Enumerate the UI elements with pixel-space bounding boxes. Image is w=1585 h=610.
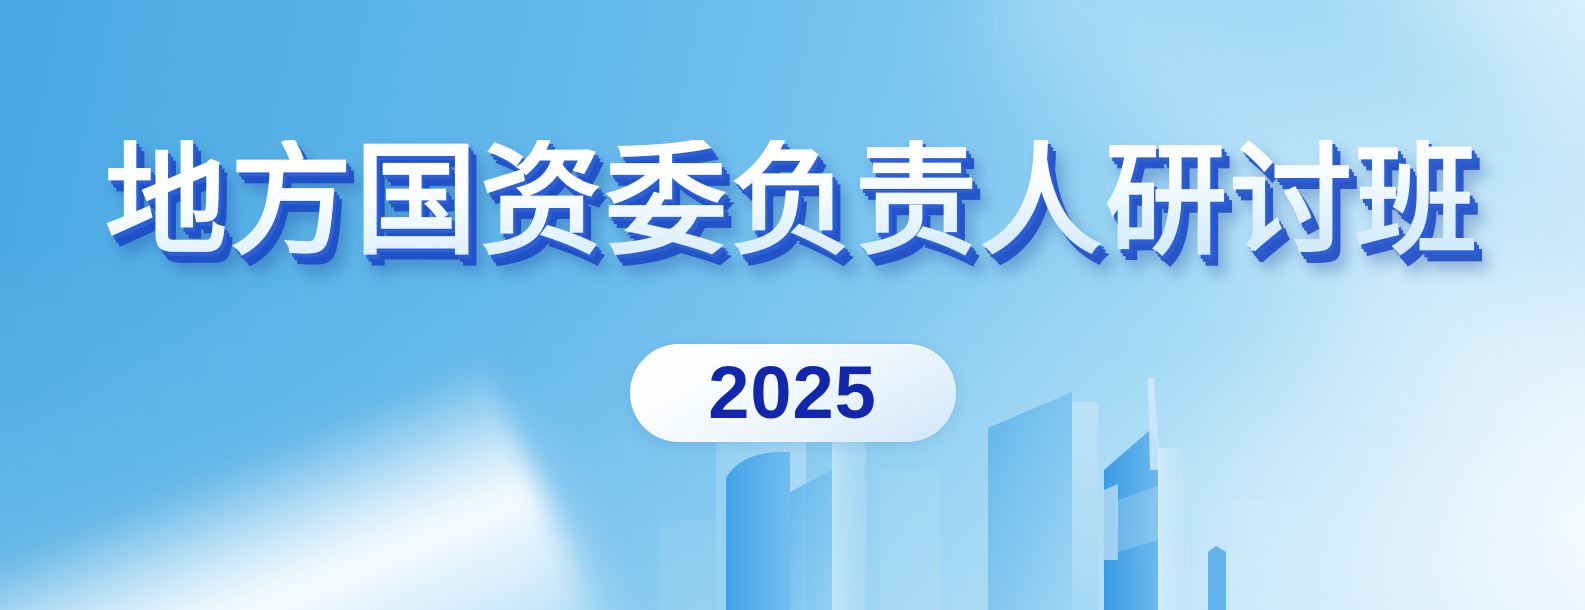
- building-ghost-block-a: [880, 470, 940, 610]
- building-right-glass-slab: [1158, 448, 1192, 610]
- banner-title-container: 地方国资委负责人研讨班: [0, 140, 1585, 262]
- event-banner: 地方国资委负责人研讨班 2025: [0, 0, 1585, 610]
- city-skyline-illustration: [0, 0, 1585, 610]
- building-spire-ledge: [1104, 484, 1118, 560]
- building-left-curved-tower: [726, 452, 790, 610]
- year-badge: 2025: [630, 344, 956, 442]
- page-title: 地方国资委负责人研讨班: [105, 140, 1480, 262]
- building-center-left-glass: [832, 436, 866, 610]
- building-ghost-block-c: [660, 520, 716, 610]
- building-left-mid-slab: [790, 470, 832, 610]
- building-far-right-small-tower: [1208, 546, 1226, 610]
- year-badge-container: 2025: [0, 344, 1585, 442]
- building-ghost-block-b: [1230, 500, 1300, 610]
- year-badge-label: 2025: [708, 356, 877, 430]
